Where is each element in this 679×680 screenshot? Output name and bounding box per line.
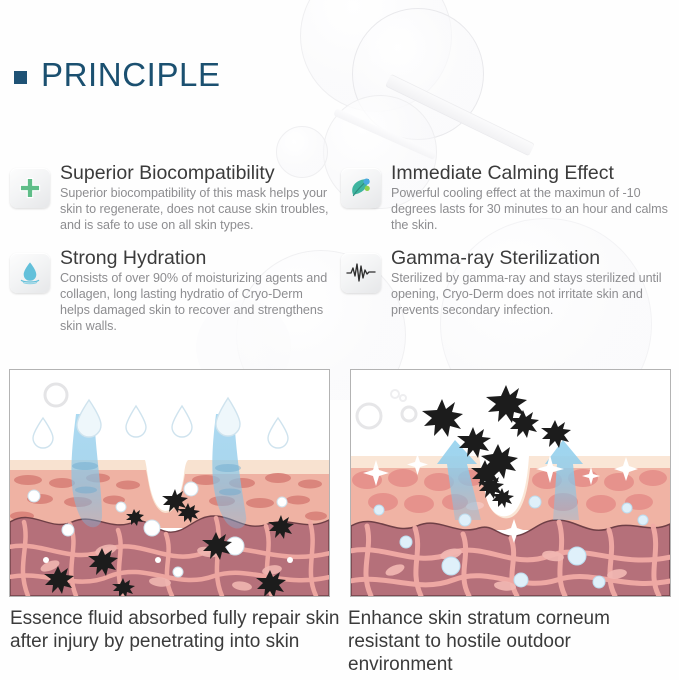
square-bullet-icon bbox=[14, 71, 27, 84]
feature-body: Superior biocompatibility of this mask h… bbox=[60, 186, 333, 234]
caption-right: Enhance skin stratum corneum resistant t… bbox=[348, 607, 668, 677]
plus-cross-icon bbox=[10, 168, 50, 208]
water-drop-icon bbox=[10, 253, 50, 293]
leaf-icon bbox=[341, 168, 381, 208]
feature-item-biocompatibility: Superior Biocompatibility Superior bioco… bbox=[10, 163, 341, 234]
feature-title: Strong Hydration bbox=[60, 248, 333, 270]
decor-stick bbox=[333, 108, 437, 160]
feature-title: Gamma-ray Sterilization bbox=[391, 248, 670, 270]
stratum-corneum-defense-diagram bbox=[350, 369, 671, 597]
feature-item-hydration: Strong Hydration Consists of over 90% of… bbox=[10, 248, 341, 335]
feature-body: Consists of over 90% of moisturizing age… bbox=[60, 271, 333, 335]
illustration-panels bbox=[9, 369, 671, 597]
feature-title: Immediate Calming Effect bbox=[391, 163, 670, 185]
feature-body: Sterilized by gamma-ray and stays steril… bbox=[391, 271, 670, 319]
feature-item-calming: Immediate Calming Effect Powerful coolin… bbox=[341, 163, 672, 234]
essence-absorption-diagram bbox=[9, 369, 330, 597]
feature-body: Powerful cooling effect at the maximun o… bbox=[391, 186, 670, 234]
feature-item-sterilization: Gamma-ray Sterilization Sterilized by ga… bbox=[341, 248, 672, 335]
feature-title: Superior Biocompatibility bbox=[60, 163, 333, 185]
decor-bubble bbox=[300, 0, 452, 112]
feature-grid: Superior Biocompatibility Superior bioco… bbox=[10, 163, 672, 335]
decor-stick bbox=[385, 74, 535, 157]
slide-canvas: PRINCIPLE Superior Biocompatibility Supe… bbox=[0, 0, 679, 680]
page-title: PRINCIPLE bbox=[41, 58, 221, 91]
decor-bubble bbox=[352, 8, 484, 140]
caption-left: Essence fluid absorbed fully repair skin… bbox=[10, 607, 348, 677]
waveform-pulse-icon bbox=[341, 253, 381, 293]
illustration-captions: Essence fluid absorbed fully repair skin… bbox=[10, 607, 672, 677]
page-title-group: PRINCIPLE bbox=[14, 58, 221, 91]
